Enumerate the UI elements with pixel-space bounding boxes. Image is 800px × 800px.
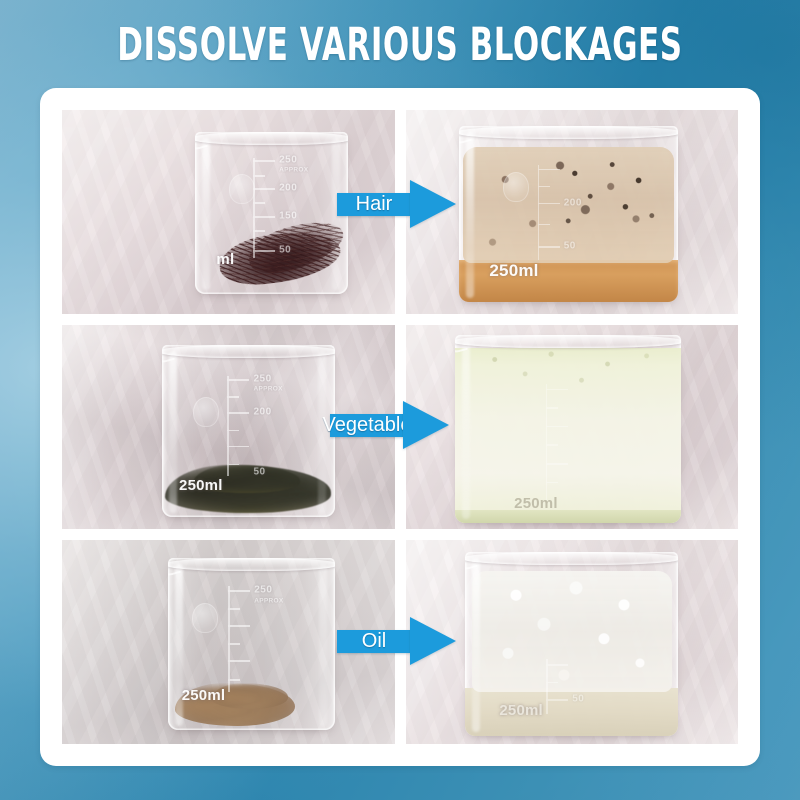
- glass-highlight-left: [472, 558, 480, 732]
- graduation-mark-250: [228, 590, 250, 592]
- graduation-mark-minor-b: [227, 430, 239, 432]
- poster-canvas: DISSOLVE VARIOUS BLOCKAGES: [0, 0, 800, 800]
- beaker-spout: [168, 558, 181, 579]
- vegetable-scraps: [165, 465, 331, 513]
- graduation-axis: [228, 586, 230, 692]
- glass-highlight-right: [332, 138, 340, 289]
- volume-badge-vegetable-before: 250ml: [179, 477, 223, 494]
- graduation-mark-minor-a: [228, 608, 240, 610]
- vegetable-scraps-upper: [193, 465, 300, 492]
- cell-hair-before: 250 APPROX 200 150 50 ml: [62, 110, 395, 314]
- graduation-mark-250: [546, 389, 568, 391]
- graduation-mark-150: [227, 446, 249, 448]
- glass-highlight-left: [462, 341, 470, 519]
- graduation-mark-minor-b: [253, 202, 265, 204]
- beaker-rim: [195, 132, 348, 145]
- beaker-hair-before: 250 APPROX 200 150 50 ml: [195, 132, 348, 293]
- volume-badge-hair-before: ml: [216, 251, 234, 268]
- graduation-axis: [253, 158, 255, 258]
- fat-chunks-upper: [212, 683, 288, 709]
- dissolved-residue-specks: [555, 154, 665, 242]
- beaker-rim: [162, 345, 335, 358]
- beaker-spout: [459, 126, 472, 147]
- graduation-mark-minor-c: [228, 679, 240, 681]
- glass-embossed-logo: [229, 174, 255, 204]
- graduation-mark-minor-b: [546, 444, 558, 446]
- beaker-spout: [455, 335, 468, 356]
- graduation-mark-200: [546, 426, 568, 428]
- froth-specks: [460, 346, 677, 391]
- graduation-mark-minor-c: [546, 482, 558, 484]
- graduation-mark-150: [546, 463, 568, 465]
- liquid-clear: [465, 688, 678, 736]
- graduation-axis: [546, 384, 548, 500]
- glass-highlight-right: [318, 351, 326, 512]
- graduation-scale: 250 APPROX 200 50: [227, 376, 307, 475]
- glass-highlight-left: [202, 138, 210, 289]
- glass-highlight-left: [175, 564, 183, 725]
- comparison-grid: 250 APPROX 200 150 50 ml: [62, 110, 738, 744]
- glass-highlight-right: [319, 564, 327, 725]
- graduation-mark-200: [538, 203, 560, 205]
- glass-embossed-logo: [503, 172, 529, 202]
- graduation-mark-minor-a: [546, 682, 558, 684]
- beaker-rim: [455, 335, 681, 348]
- graduation-scale: 250 APPROX 200 150 50: [253, 158, 323, 258]
- beaker-oil-before: 250 APPROX 250ml: [168, 558, 334, 729]
- beaker-rim: [465, 552, 678, 565]
- photo-frame: 250 APPROX 200 150 50 ml: [40, 88, 760, 766]
- hair-clump: [217, 227, 344, 290]
- beaker-spout: [465, 552, 478, 573]
- graduation-scale: 250 APPROX: [228, 586, 304, 692]
- graduation-mark-250: [227, 379, 249, 381]
- cell-vegetable-before: 250 APPROX 200 50 250ml: [62, 325, 395, 529]
- graduation-mark-250: [546, 664, 568, 666]
- graduation-mark-50: [546, 699, 568, 701]
- cell-oil-after: 50 250ml: [406, 540, 739, 744]
- settled-layer: [455, 510, 681, 523]
- graduation-scale: 200 50: [538, 165, 639, 260]
- glass-highlight-left: [169, 351, 177, 512]
- beaker-spout: [195, 132, 208, 153]
- graduation-mark-minor-b: [228, 643, 240, 645]
- graduation-mark-minor-c: [227, 464, 239, 466]
- graduation-mark-minor-a: [253, 175, 265, 177]
- beaker-vegetable-before: 250 APPROX 200 50 250ml: [162, 345, 335, 516]
- glass-embossed-logo: [193, 397, 219, 427]
- volume-badge-vegetable-after: 250ml: [514, 495, 558, 512]
- graduation-mark-minor-c: [253, 230, 265, 232]
- beaker-hair-after: 200 50 250ml: [459, 126, 678, 301]
- cell-oil-before: 250 APPROX 250ml: [62, 540, 395, 744]
- graduation-mark-50: [253, 250, 275, 252]
- foam-brown: [463, 147, 674, 263]
- graduation-axis: [227, 376, 229, 475]
- beaker-oil-after: 50 250ml: [465, 552, 678, 736]
- graduation-scale: [546, 384, 650, 500]
- graduation-mark-50: [538, 246, 560, 248]
- hair-clump-strands: [243, 213, 348, 280]
- graduation-scale: 50: [546, 659, 644, 714]
- graduation-mark-minor-b: [538, 224, 550, 226]
- glass-highlight-left: [466, 132, 474, 297]
- beaker-spout: [162, 345, 175, 366]
- graduation-mark-250: [253, 160, 275, 162]
- fat-chunks: [175, 683, 295, 726]
- graduation-mark-200: [228, 625, 250, 627]
- volume-badge-hair-after: 250ml: [489, 261, 538, 281]
- graduation-mark-200: [253, 188, 275, 190]
- graduation-mark-minor-a: [538, 186, 550, 188]
- beaker-rim: [168, 558, 334, 571]
- graduation-axis: [538, 165, 540, 260]
- graduation-mark-200: [227, 412, 249, 414]
- graduation-mark-150: [228, 660, 250, 662]
- beaker-rim: [459, 126, 678, 139]
- page-title: DISSOLVE VARIOUS BLOCKAGES: [117, 21, 682, 66]
- graduation-axis: [546, 659, 548, 714]
- graduation-mark-minor-a: [227, 396, 239, 398]
- cell-hair-after: 200 50 250ml: [406, 110, 739, 314]
- beaker-vegetable-after: 250ml: [455, 335, 681, 523]
- graduation-mark-minor-a: [546, 407, 558, 409]
- cell-vegetable-after: 250ml: [406, 325, 739, 529]
- title-bar: DISSOLVE VARIOUS BLOCKAGES: [0, 0, 800, 88]
- graduation-mark-250: [538, 169, 560, 171]
- liquid-amber: [459, 260, 678, 302]
- glass-embossed-logo: [192, 603, 218, 633]
- foam-white: [472, 571, 672, 692]
- graduation-mark-150: [253, 216, 275, 218]
- liquid-green-cream: [455, 348, 681, 523]
- volume-badge-oil-before: 250ml: [182, 687, 226, 704]
- volume-badge-oil-after: 250ml: [499, 702, 543, 719]
